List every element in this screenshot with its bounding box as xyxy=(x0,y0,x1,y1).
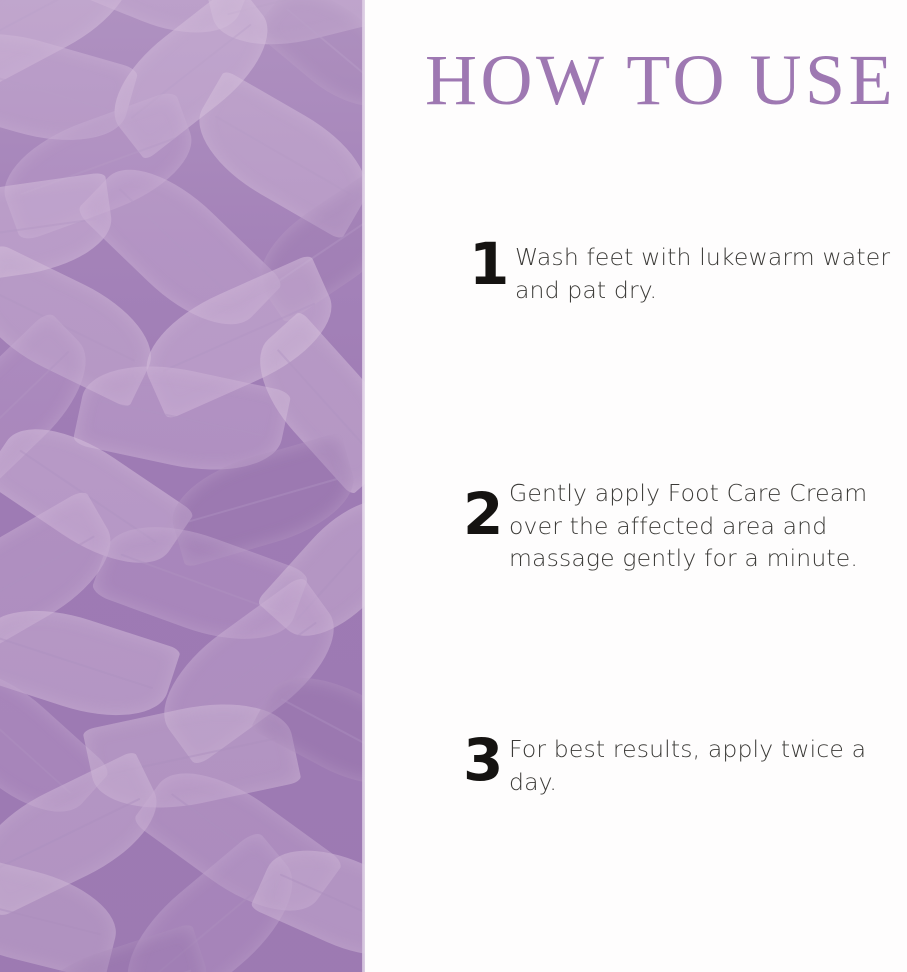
step-text: Gently apply Foot Care Cream over the af… xyxy=(509,474,907,575)
step-item: 3 For best results, apply twice a day. xyxy=(463,730,907,798)
how-to-use-poster: HOW TO USE 1 Wash feet with lukewarm wat… xyxy=(0,0,907,972)
leaf-pattern-panel xyxy=(0,0,365,972)
step-text: For best results, apply twice a day. xyxy=(509,730,907,798)
step-number: 2 xyxy=(463,474,509,541)
step-number: 3 xyxy=(463,730,509,787)
step-text: Wash feet with lukewarm water and pat dr… xyxy=(515,238,907,306)
page-title: HOW TO USE xyxy=(425,44,905,116)
step-number: 1 xyxy=(463,238,515,291)
content-column: HOW TO USE 1 Wash feet with lukewarm wat… xyxy=(365,0,907,972)
step-item: 1 Wash feet with lukewarm water and pat … xyxy=(463,238,907,306)
leaf-cluster xyxy=(0,0,365,972)
step-item: 2 Gently apply Foot Care Cream over the … xyxy=(463,474,907,575)
